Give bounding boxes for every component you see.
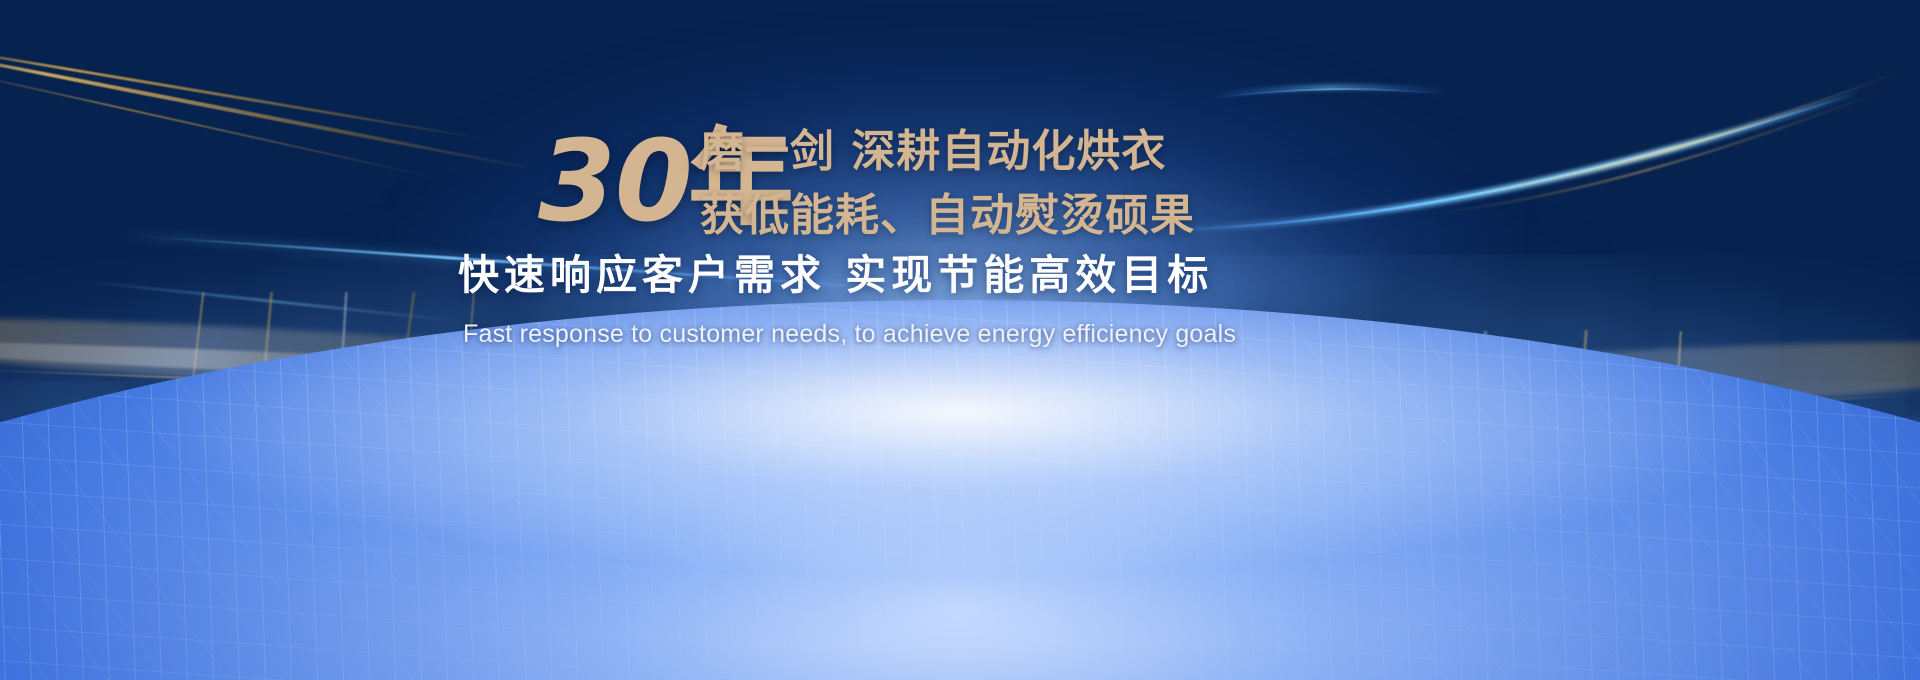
headline-english: Fast response to customer needs, to achi… [463, 322, 1236, 347]
gold-slogan-block: 磨一剑 深耕自动化烘衣 获低能耗、自动熨烫硕果 [700, 130, 1195, 238]
gold-slogan-line-1: 磨一剑 深耕自动化烘衣 [700, 130, 1195, 174]
banner-content: 30 年 磨一剑 深耕自动化烘衣 获低能耗、自动熨烫硕果 快速响应客户需求 实现… [0, 0, 1920, 680]
headline-chinese: 快速响应客户需求 实现节能高效目标 [458, 255, 1213, 296]
gold-slogan-line-2: 获低能耗、自动熨烫硕果 [700, 194, 1195, 238]
hero-banner: 30 年 磨一剑 深耕自动化烘衣 获低能耗、自动熨烫硕果 快速响应客户需求 实现… [0, 0, 1920, 680]
anniversary-number: 30 [538, 126, 692, 238]
